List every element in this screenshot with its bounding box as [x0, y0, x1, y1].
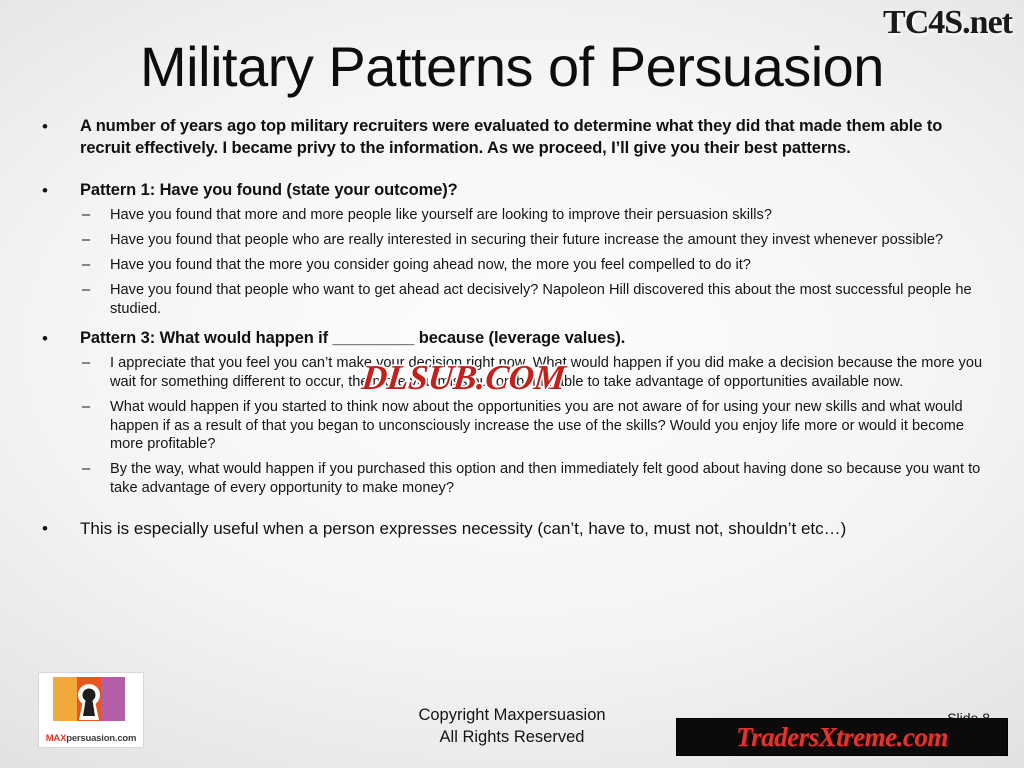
sub-bullet-text: Have you found that people who want to g… [110, 282, 972, 317]
bullet-glyph: • [42, 518, 48, 540]
sub-bullet-text: What would happen if you started to thin… [110, 399, 964, 453]
sub-list-item: – Have you found that people who are rea… [80, 231, 990, 250]
list-item: • Pattern 3: What would happen if ______… [34, 328, 990, 499]
page-title: Military Patterns of Persuasion [0, 34, 1024, 99]
sub-bullet-text: Have you found that more and more people… [110, 207, 772, 223]
sub-bullet-text: Have you found that people who are reall… [110, 232, 943, 248]
bullet-glyph: • [42, 180, 48, 202]
bullet-glyph: • [42, 116, 48, 138]
watermark-dlsub: DLSUB.COM [360, 358, 567, 398]
dash-glyph: – [82, 354, 90, 373]
bullet-glyph: • [42, 328, 48, 350]
bullet-text: A number of years ago top military recru… [80, 116, 990, 160]
keyhole-icon [39, 673, 143, 729]
list-item: • This is especially useful when a perso… [34, 518, 990, 540]
sub-list-item: – Have you found that people who want to… [80, 281, 990, 319]
dash-glyph: – [82, 281, 90, 300]
watermark-tradersxtreme-text: TradersXtreme.com [736, 722, 948, 753]
logo-wordmark: MAXpersuasion.com [39, 733, 143, 744]
sub-list-item: – Have you found that the more you consi… [80, 256, 990, 275]
sub-list-item: – What would happen if you started to th… [80, 398, 990, 455]
dash-glyph: – [82, 231, 90, 250]
list-item: • Pattern 1: Have you found (state your … [34, 180, 990, 319]
watermark-tradersxtreme: TradersXtreme.com [676, 718, 1008, 756]
dash-glyph: – [82, 398, 90, 417]
bullet-list: • A number of years ago top military rec… [34, 116, 990, 540]
dash-glyph: – [82, 256, 90, 275]
slide-canvas: TC4S.net Military Patterns of Persuasion… [0, 0, 1024, 768]
slide-body: • A number of years ago top military rec… [34, 116, 990, 549]
list-item: • A number of years ago top military rec… [34, 116, 990, 160]
sub-list-item: – Have you found that more and more peop… [80, 206, 990, 225]
maxpersuasion-logo: MAXpersuasion.com [38, 672, 144, 748]
sub-bullet-list: – Have you found that more and more peop… [80, 206, 990, 319]
logo-wordmark-max: MAX [46, 733, 67, 744]
logo-wordmark-persuasion: persuasion.com [66, 733, 136, 744]
bullet-text: This is especially useful when a person … [80, 518, 990, 540]
bullet-text: Pattern 1: Have you found (state your ou… [80, 180, 990, 202]
sub-bullet-text: Have you found that the more you conside… [110, 257, 751, 273]
bullet-text: Pattern 3: What would happen if ________… [80, 328, 990, 350]
sub-list-item: – By the way, what would happen if you p… [80, 460, 990, 498]
dash-glyph: – [82, 460, 90, 479]
sub-bullet-text: By the way, what would happen if you pur… [110, 461, 980, 496]
dash-glyph: – [82, 206, 90, 225]
